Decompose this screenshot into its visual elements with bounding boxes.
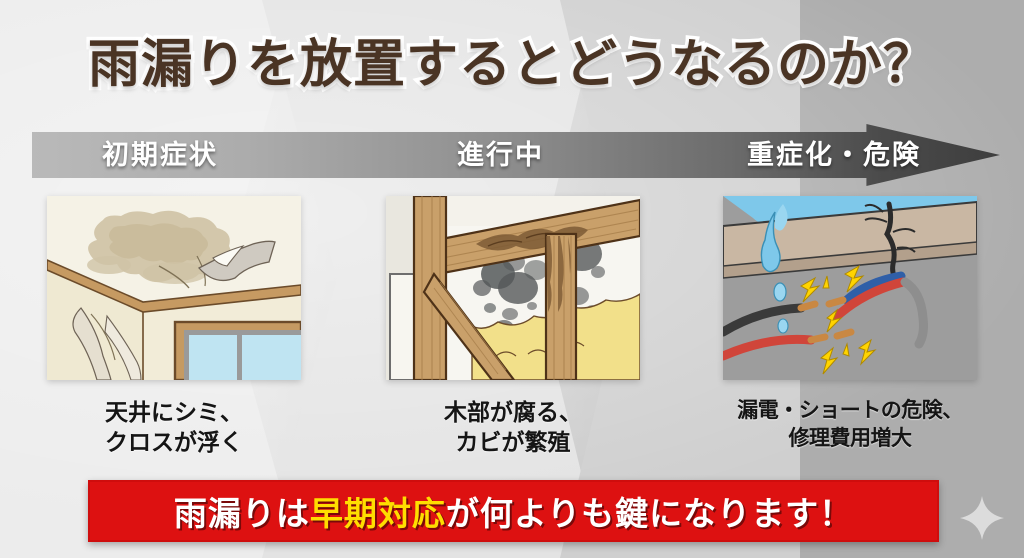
banner-highlight: 早期対応 — [310, 495, 446, 532]
caption-line-1: 木部が腐る、 — [386, 397, 640, 427]
banner-suffix: が何よりも鍵になります！ — [446, 495, 853, 532]
caption-line-1: 天井にシミ、 — [47, 397, 301, 427]
caption-line-1: 漏電・ショートの危険、 — [723, 397, 977, 425]
electrical-short-circuit-illustration — [723, 196, 977, 380]
caption-line-2: 修理費用増大 — [723, 425, 977, 453]
panel-caption-progressing: 木部が腐る、 カビが繁殖 — [386, 397, 640, 458]
infographic-canvas: 雨漏りを放置するとどうなるのか？ 初期症状 進行中 重症化・危険 — [0, 0, 1024, 558]
progression-arrow: 初期症状 進行中 重症化・危険 — [32, 124, 1000, 186]
stage-label-severe: 重症化・危険 — [747, 124, 921, 186]
caption-line-2: クロスが浮く — [47, 427, 301, 457]
callout-banner-text: 雨漏りは早期対応が何よりも鍵になります！ — [174, 487, 853, 535]
caption-line-2: カビが繁殖 — [386, 427, 640, 457]
panel-early-symptoms: 天井にシミ、 クロスが浮く — [47, 196, 301, 458]
sparkle-icon — [958, 494, 1006, 542]
ceiling-water-stain-illustration — [47, 196, 301, 380]
panel-caption-early: 天井にシミ、 クロスが浮く — [47, 397, 301, 458]
callout-banner: 雨漏りは早期対応が何よりも鍵になります！ — [88, 480, 939, 542]
panel-severe-danger: 漏電・ショートの危険、 修理費用増大 — [723, 196, 977, 452]
panel-progressing: 木部が腐る、 カビが繁殖 — [386, 196, 640, 458]
page-title: 雨漏りを放置するとどうなるのか？ — [0, 22, 1024, 97]
stage-label-progressing: 進行中 — [457, 124, 544, 186]
panel-caption-severe: 漏電・ショートの危険、 修理費用増大 — [723, 397, 977, 452]
stage-label-early: 初期症状 — [102, 124, 218, 186]
banner-prefix: 雨漏りは — [174, 495, 310, 532]
rotting-wood-mold-illustration — [386, 196, 640, 380]
